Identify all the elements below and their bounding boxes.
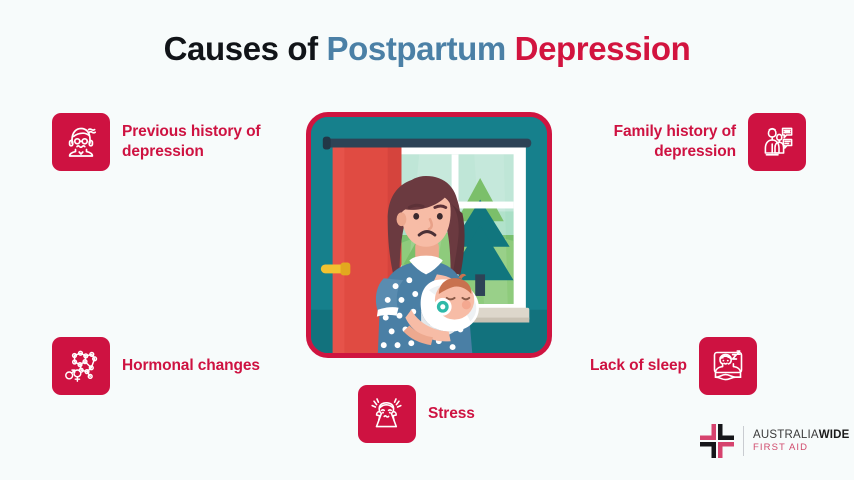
sleeping-person-icon-box xyxy=(699,337,757,395)
cause-item-previous-history: Previous history of depression xyxy=(52,113,302,171)
sleeping-person-icon xyxy=(708,346,748,386)
molecule-gender-icon-box xyxy=(52,337,110,395)
logo-brand-name: AUSTRALIAWIDE xyxy=(753,429,850,441)
sad-face-icon-box xyxy=(52,113,110,171)
logo-brand-australia: AUSTRALIA xyxy=(753,429,819,441)
title-part-causes-of: Causes of xyxy=(164,30,327,67)
cause-label-stress: Stress xyxy=(428,404,475,424)
logo-text: AUSTRALIAWIDE FIRST AID xyxy=(753,429,850,454)
cause-label-family-history: Family history of depression xyxy=(556,122,736,162)
cause-item-family-history: Family history of depression xyxy=(556,113,806,171)
first-aid-cross-icon xyxy=(700,424,734,458)
molecule-gender-icon xyxy=(61,346,101,386)
illustration-svg xyxy=(311,117,547,353)
australia-wide-first-aid-logo: AUSTRALIAWIDE FIRST AID xyxy=(700,424,850,458)
cause-label-lack-of-sleep: Lack of sleep xyxy=(590,356,687,376)
cause-label-hormonal-changes: Hormonal changes xyxy=(122,356,260,376)
logo-divider xyxy=(743,426,744,456)
logo-brand-wide: WIDE xyxy=(819,429,850,441)
logo-brand-tagline: FIRST AID xyxy=(753,443,850,453)
title-part-postpartum: Postpartum xyxy=(327,30,506,67)
family-speech-bubbles-icon xyxy=(757,122,797,162)
family-speech-bubbles-icon-box xyxy=(748,113,806,171)
cause-item-hormonal-changes: Hormonal changes xyxy=(52,337,322,395)
cause-label-previous-history: Previous history of depression xyxy=(122,122,302,162)
mother-holding-baby-illustration xyxy=(306,112,552,358)
cause-item-stress: Stress xyxy=(358,385,508,443)
cause-item-lack-of-sleep: Lack of sleep xyxy=(590,337,806,395)
stressed-person-icon xyxy=(367,394,407,434)
sad-face-icon xyxy=(61,122,101,162)
stressed-person-icon-box xyxy=(358,385,416,443)
title-part-depression: Depression xyxy=(506,30,691,67)
infographic-canvas: Causes of Postpartum Depression xyxy=(0,0,854,480)
page-title: Causes of Postpartum Depression xyxy=(0,30,854,68)
